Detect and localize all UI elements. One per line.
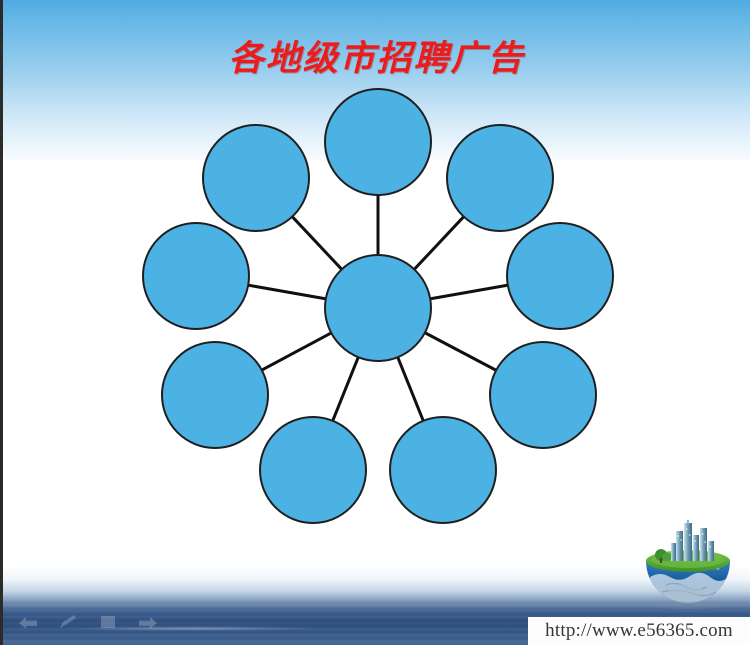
- node-circle-9[interactable]: [203, 125, 309, 231]
- node-circle-3[interactable]: [507, 223, 613, 329]
- diagram-center-node[interactable]: [325, 255, 431, 361]
- diagram-node-2[interactable]: [447, 125, 553, 231]
- diagram-node-5[interactable]: [390, 417, 496, 523]
- node-circle-6[interactable]: [260, 417, 366, 523]
- spoke-line-5: [397, 356, 423, 421]
- center-node-circle[interactable]: [325, 255, 431, 361]
- back-arrow-icon: [17, 613, 39, 631]
- spoke-line-3: [429, 285, 509, 299]
- water-glint: [63, 626, 323, 631]
- page-title: 各地级市招聘广告: [3, 30, 750, 81]
- spoke-line-7: [261, 332, 332, 370]
- spoke-line-6: [332, 356, 358, 421]
- white-midground: [3, 160, 750, 600]
- diagram-node-6[interactable]: [260, 417, 366, 523]
- diagram-node-8[interactable]: [143, 223, 249, 329]
- page-icon: [97, 613, 119, 631]
- node-circle-4[interactable]: [490, 342, 596, 448]
- diagram-svg: [3, 0, 750, 645]
- hub-and-spoke-diagram: [3, 0, 750, 645]
- center-node-group: [325, 255, 431, 361]
- spoke-line-9: [292, 216, 343, 270]
- diagram-node-7[interactable]: [162, 342, 268, 448]
- url-watermark: http://www.e56365.com: [528, 617, 750, 645]
- diagram-node-1[interactable]: [325, 89, 431, 195]
- ghost-toolbar-icons: [17, 613, 159, 631]
- node-circle-7[interactable]: [162, 342, 268, 448]
- globe-city-logo: [636, 519, 740, 611]
- node-circle-2[interactable]: [447, 125, 553, 231]
- spoke-line-8: [247, 285, 327, 299]
- slide-canvas: 各地级市招聘广告: [0, 0, 750, 645]
- spoke-line-4: [424, 332, 497, 370]
- diagram-node-4[interactable]: [490, 342, 596, 448]
- diagram-node-3[interactable]: [507, 223, 613, 329]
- diagram-node-9[interactable]: [203, 125, 309, 231]
- forward-arrow-icon: [137, 613, 159, 631]
- node-circle-5[interactable]: [390, 417, 496, 523]
- pen-icon: [57, 613, 79, 631]
- spoke-line-2: [414, 216, 465, 270]
- node-circle-1[interactable]: [325, 89, 431, 195]
- node-circle-8[interactable]: [143, 223, 249, 329]
